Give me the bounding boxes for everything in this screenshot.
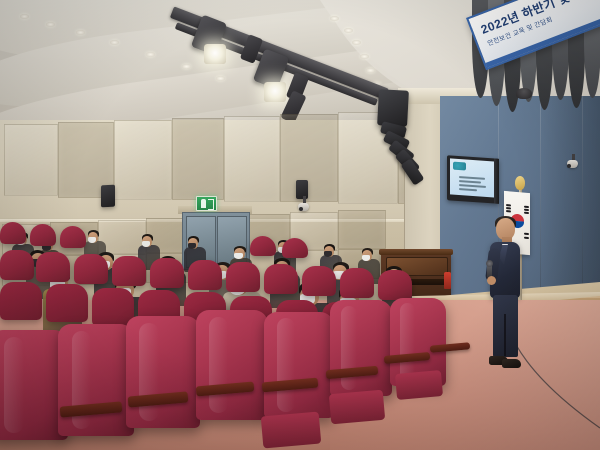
auditorium-seat[interactable] <box>74 254 108 284</box>
seat-cushion <box>329 390 385 425</box>
auditorium-seat[interactable] <box>264 264 298 294</box>
auditorium-photo: 2022년 하반기 및 안전보건 교육 및 간담회 <box>0 0 600 450</box>
auditorium-seat[interactable] <box>188 260 222 290</box>
auditorium-seat[interactable] <box>0 282 42 320</box>
seating-rows <box>0 0 600 450</box>
auditorium-seat[interactable] <box>60 226 86 248</box>
auditorium-seat[interactable] <box>226 262 260 292</box>
auditorium-seat[interactable] <box>330 300 392 396</box>
auditorium-seat[interactable] <box>0 222 26 244</box>
auditorium-seat[interactable] <box>112 256 146 286</box>
auditorium-seat[interactable] <box>196 310 268 420</box>
auditorium-seat[interactable] <box>250 236 276 256</box>
seat-cushion <box>261 412 322 449</box>
auditorium-seat[interactable] <box>302 266 336 296</box>
auditorium-seat[interactable] <box>36 252 70 282</box>
auditorium-seat[interactable] <box>282 238 308 258</box>
auditorium-seat[interactable] <box>30 224 56 246</box>
auditorium-seat[interactable] <box>150 258 184 288</box>
auditorium-seat[interactable] <box>46 284 88 322</box>
auditorium-seat[interactable] <box>126 316 200 428</box>
auditorium-seat[interactable] <box>264 312 334 418</box>
auditorium-seat[interactable] <box>0 250 34 280</box>
seat-cushion <box>395 370 443 400</box>
auditorium-seat[interactable] <box>58 324 134 436</box>
auditorium-seat[interactable] <box>378 270 412 300</box>
auditorium-seat[interactable] <box>340 268 374 298</box>
